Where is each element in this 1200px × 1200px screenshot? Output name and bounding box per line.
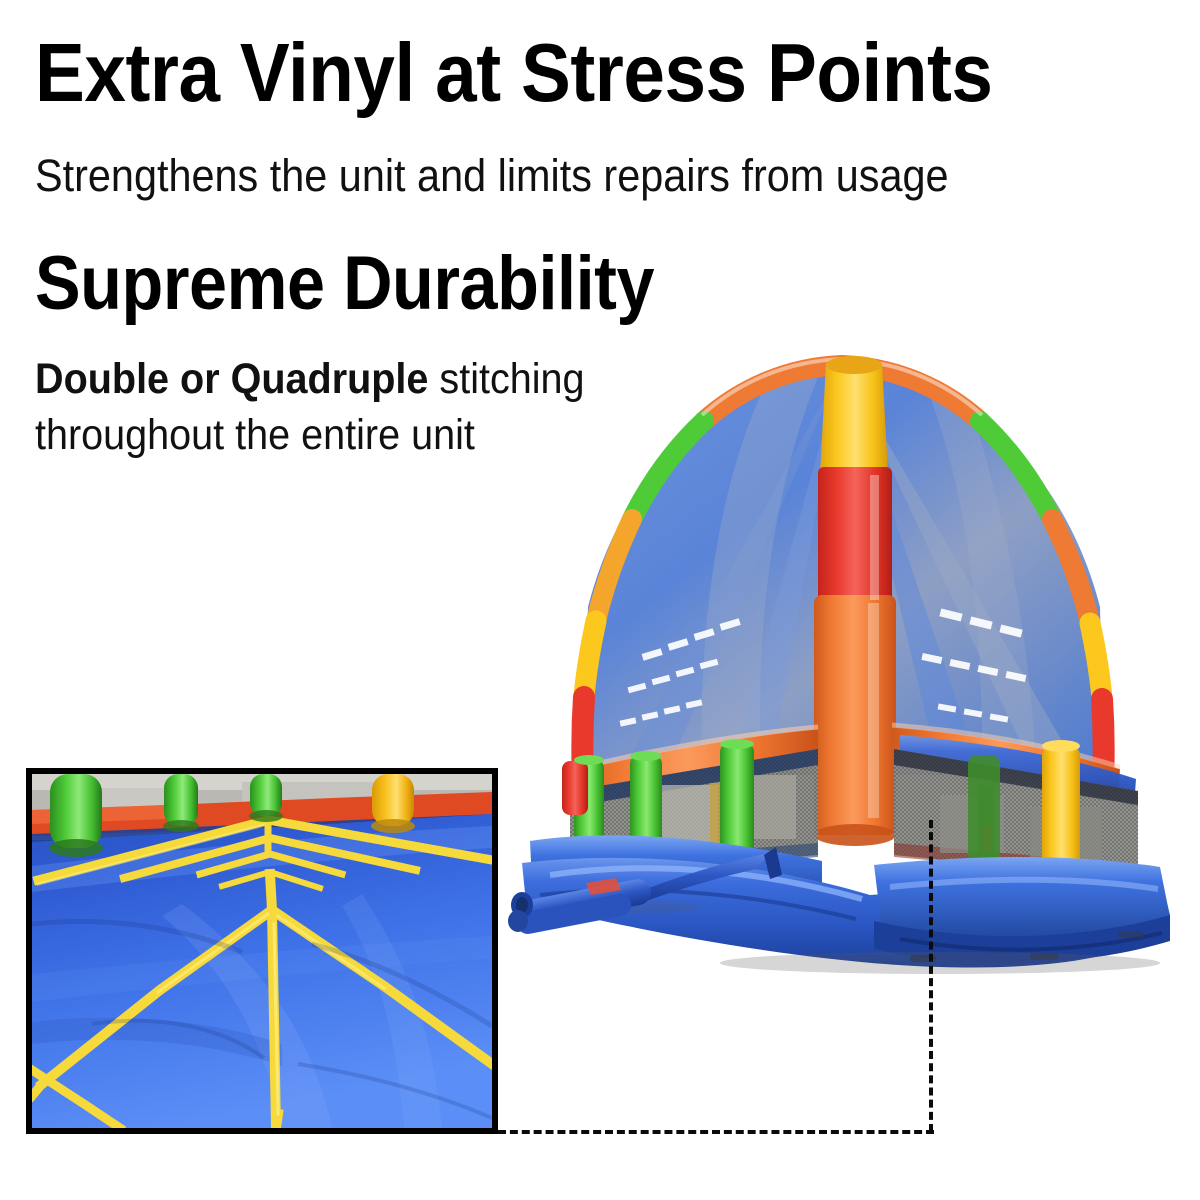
inset-closeup-photo xyxy=(26,768,498,1134)
section-body-rest: stitching xyxy=(428,355,584,403)
text-block: Extra Vinyl at Stress Points Strengthens… xyxy=(35,32,1165,464)
section-body-emphasis: Double or Quadruple xyxy=(35,355,428,403)
section-body-line-1: Double or Quadruple stitching xyxy=(35,352,1075,408)
section-title: Supreme Durability xyxy=(35,198,1052,322)
post-green-center xyxy=(250,774,282,816)
post-green-mid xyxy=(164,774,198,826)
callout-line-horizontal xyxy=(498,1130,934,1134)
section-body: Double or Quadruple stitching throughout… xyxy=(35,322,1075,464)
callout-line-vertical xyxy=(929,820,933,1132)
page-subtitle: Strengthens the unit and limits repairs … xyxy=(35,113,1075,198)
post-yellow-right xyxy=(372,774,414,826)
stitching-closeup-illustration xyxy=(32,774,492,1128)
section-body-line-2: throughout the entire unit xyxy=(35,408,1075,464)
poster-canvas: Extra Vinyl at Stress Points Strengthens… xyxy=(0,0,1200,1200)
post-green-left xyxy=(50,774,102,848)
page-title: Extra Vinyl at Stress Points xyxy=(35,32,1052,113)
column-red-left xyxy=(562,761,588,815)
